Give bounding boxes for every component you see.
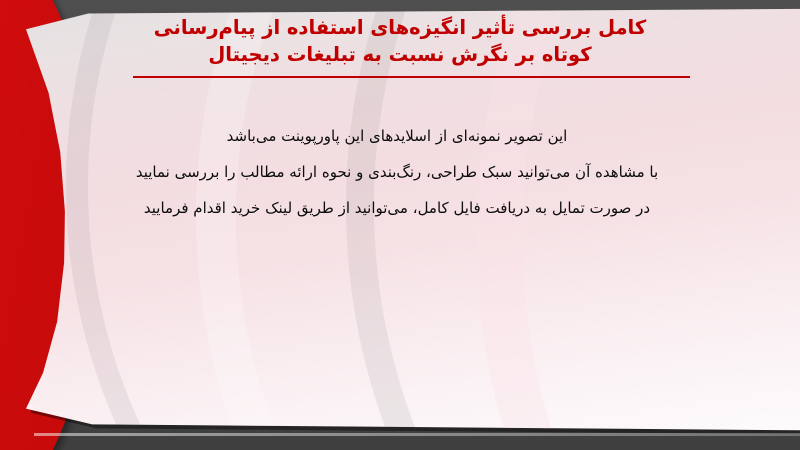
slide-canvas: کامل بررسی تأثیر انگیزه‌های استفاده از پ…: [0, 0, 800, 450]
title-line-2: کوتاه بر نگرش نسبت به تبلیغات دیجیتال: [110, 41, 690, 68]
panel-bottom-highlight: [34, 433, 800, 436]
body-line-2: با مشاهده آن می‌توانید سبک طراحی، رنگ‌بن…: [102, 154, 692, 190]
title-divider-rule: [133, 76, 690, 78]
body-line-3: در صورت تمایل به دریافت فایل کامل، می‌تو…: [102, 190, 692, 226]
slide-title: کامل بررسی تأثیر انگیزه‌های استفاده از پ…: [110, 14, 690, 68]
body-line-1: این تصویر نمونه‌ای از اسلایدهای این پاور…: [102, 118, 692, 154]
slide-body-text: این تصویر نمونه‌ای از اسلایدهای این پاور…: [102, 118, 692, 226]
title-line-1: کامل بررسی تأثیر انگیزه‌های استفاده از پ…: [110, 14, 690, 41]
